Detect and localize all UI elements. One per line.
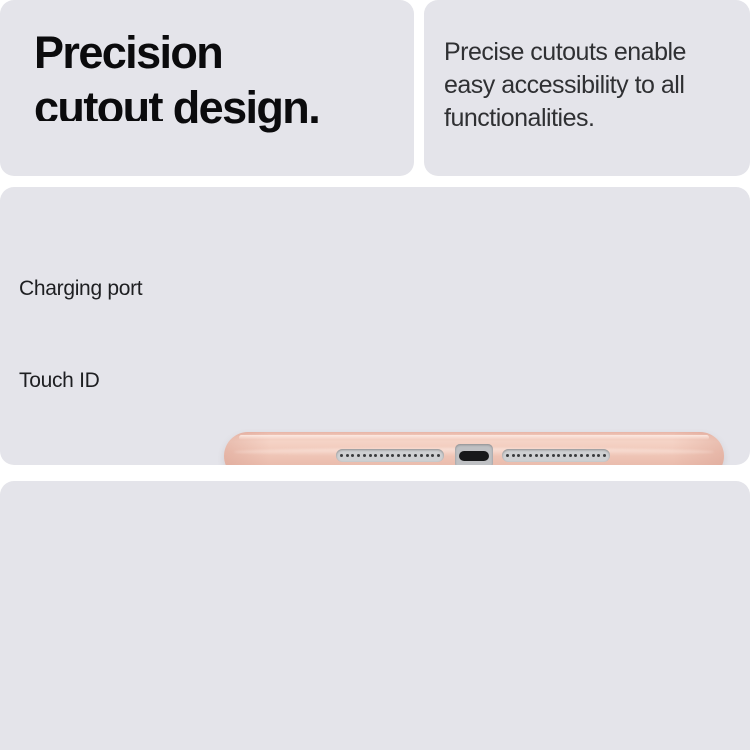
speaker-hole [529,454,532,457]
speaker-hole [563,454,566,457]
speaker-hole [574,454,577,457]
description-panel: Precise cutouts enable easy accessibilit… [424,0,750,176]
speaker-hole [351,454,354,457]
speaker-hole [431,454,434,457]
headline-line-1: Precision [34,26,394,81]
speaker-hole [569,454,572,457]
speaker-hole [426,454,429,457]
speaker-hole [586,454,589,457]
page-title: Precision cutout design. [34,26,394,136]
speaker-hole [374,454,377,457]
speaker-hole [592,454,595,457]
speaker-hole [506,454,509,457]
speaker-hole [603,454,606,457]
product-feature-graphic: Precision cutout design. Precise cutouts… [0,0,750,750]
speaker-hole [386,454,389,457]
headline-line-2-rest: design. [162,82,319,133]
tablet-bottom-edge-view [224,432,724,465]
speaker-hole [369,454,372,457]
speaker-hole [523,454,526,457]
case-back-panel [0,481,750,750]
label-touch-id: Touch ID [19,369,99,393]
label-charging-port: Charging port [19,277,142,301]
case-lip-seam [239,435,709,440]
speaker-grille-right-icon [502,449,610,462]
speaker-hole [414,454,417,457]
speaker-grille-left-icon [336,449,444,462]
speaker-hole [346,454,349,457]
speaker-hole [580,454,583,457]
speaker-hole [597,454,600,457]
speaker-hole [403,454,406,457]
speaker-hole [340,454,343,457]
speaker-hole [420,454,423,457]
speaker-hole [512,454,515,457]
cutout-detail-panel: Charging port Touch ID [0,187,750,465]
speaker-hole [397,454,400,457]
speaker-hole [437,454,440,457]
speaker-hole [546,454,549,457]
speaker-hole [363,454,366,457]
speaker-hole [552,454,555,457]
speaker-hole [380,454,383,457]
speaker-hole [557,454,560,457]
speaker-hole [357,454,360,457]
speaker-hole [408,454,411,457]
speaker-hole [540,454,543,457]
speaker-hole [391,454,394,457]
headline-cutout-word: cutout [34,81,162,136]
headline-panel: Precision cutout design. [0,0,414,176]
speaker-hole [517,454,520,457]
speaker-hole [535,454,538,457]
description-text: Precise cutouts enable easy accessibilit… [444,36,736,135]
usb-c-port-cutout [455,444,493,465]
